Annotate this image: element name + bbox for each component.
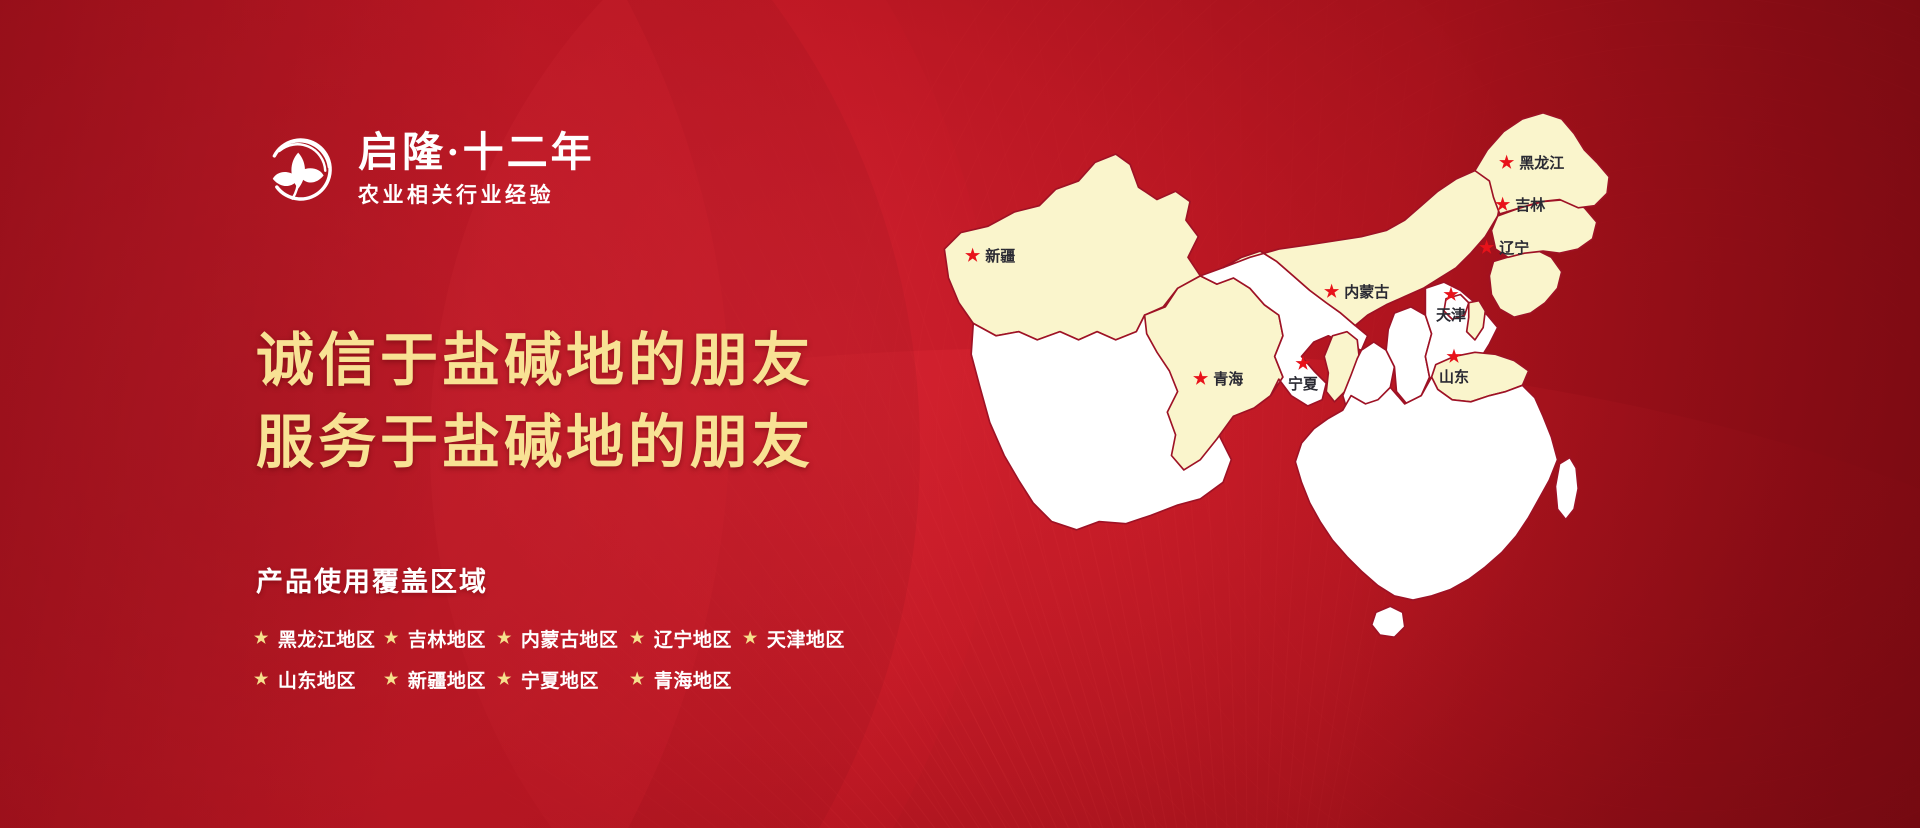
china-coverage-map: ★新疆 ★青海 ★宁夏 ★内蒙古 ★天津 ★山东 ★辽宁 ★吉林 ★黑龙江 — [905, 55, 1665, 695]
map-label-inner-mongolia: ★内蒙古 — [1324, 281, 1389, 302]
star-marker-icon: ★ — [1324, 283, 1339, 300]
map-label-heilongjiang: ★黑龙江 — [1499, 152, 1564, 173]
province-taiwan — [1555, 458, 1578, 520]
region-row: ★黑龙江地区 ★吉林地区 ★内蒙古地区 ★辽宁地区 ★天津地区 — [254, 625, 934, 652]
region-row: ★山东地区 ★新疆地区 ★宁夏地区 ★青海地区 — [254, 666, 934, 693]
region-label: 吉林地区 — [408, 625, 486, 652]
star-icon: ★ — [743, 631, 758, 647]
star-marker-icon: ★ — [1443, 286, 1458, 303]
map-label-text: 新疆 — [985, 245, 1015, 266]
region-label: 内蒙古地区 — [521, 625, 619, 652]
map-label-jilin: ★吉林 — [1495, 194, 1545, 215]
content-column: 启隆·十二年 农业相关行业经验 诚信于盐碱地的朋友 服务于盐碱地的朋友 产品使用… — [0, 0, 940, 828]
star-marker-icon: ★ — [1479, 239, 1494, 256]
map-label-text: 黑龙江 — [1519, 152, 1564, 173]
map-label-text: 青海 — [1213, 368, 1243, 389]
star-marker-icon: ★ — [1193, 370, 1208, 387]
map-label-text: 宁夏 — [1288, 373, 1318, 394]
region-label: 宁夏地区 — [521, 666, 599, 693]
headline: 诚信于盐碱地的朋友 服务于盐碱地的朋友 — [256, 320, 814, 485]
star-icon: ★ — [630, 672, 645, 688]
region-item: ★内蒙古地区 — [497, 625, 630, 652]
region-label: 新疆地区 — [408, 666, 486, 693]
map-label-ningxia: ★宁夏 — [1288, 355, 1318, 394]
star-icon: ★ — [254, 672, 269, 688]
province-hainan — [1372, 606, 1405, 637]
region-label: 山东地区 — [278, 666, 356, 693]
map-label-shandong: ★山东 — [1439, 348, 1469, 387]
map-label-text: 内蒙古 — [1344, 281, 1389, 302]
headline-line-1: 诚信于盐碱地的朋友 — [256, 320, 814, 402]
region-label: 天津地区 — [767, 625, 845, 652]
region-item: ★辽宁地区 — [630, 625, 743, 652]
coverage-region-list: ★黑龙江地区 ★吉林地区 ★内蒙古地区 ★辽宁地区 ★天津地区 ★山东地区 ★新… — [254, 625, 934, 707]
star-marker-icon: ★ — [1295, 355, 1310, 372]
map-label-tianjin: ★天津 — [1436, 286, 1466, 325]
map-label-xinjiang: ★新疆 — [965, 245, 1015, 266]
star-icon: ★ — [497, 631, 512, 647]
headline-line-2: 服务于盐碱地的朋友 — [256, 402, 814, 484]
lotus-leaf-circle-logo-icon — [258, 128, 340, 210]
region-item: ★吉林地区 — [384, 625, 497, 652]
coverage-title: 产品使用覆盖区域 — [256, 560, 488, 599]
region-label: 青海地区 — [654, 666, 732, 693]
star-icon: ★ — [630, 631, 645, 647]
region-item: ★山东地区 — [254, 666, 384, 693]
region-item: ★黑龙江地区 — [254, 625, 384, 652]
brand-title: 启隆·十二年 — [358, 132, 595, 173]
star-icon: ★ — [384, 631, 399, 647]
star-icon: ★ — [384, 672, 399, 688]
region-item: ★青海地区 — [630, 666, 743, 693]
star-marker-icon: ★ — [1499, 154, 1514, 171]
star-icon: ★ — [254, 631, 269, 647]
promo-banner: 启隆·十二年 农业相关行业经验 诚信于盐碱地的朋友 服务于盐碱地的朋友 产品使用… — [0, 0, 1920, 828]
star-marker-icon: ★ — [1446, 348, 1461, 365]
map-label-text: 辽宁 — [1499, 237, 1529, 258]
region-item: ★新疆地区 — [384, 666, 497, 693]
star-marker-icon: ★ — [965, 247, 980, 264]
map-label-text: 吉林 — [1515, 194, 1545, 215]
map-label-text: 山东 — [1439, 366, 1469, 387]
region-item: ★天津地区 — [743, 625, 856, 652]
star-icon: ★ — [497, 672, 512, 688]
region-item: ★宁夏地区 — [497, 666, 630, 693]
brand-subtitle: 农业相关行业经验 — [358, 185, 595, 206]
region-label: 黑龙江地区 — [278, 625, 376, 652]
region-label: 辽宁地区 — [654, 625, 732, 652]
map-label-qinghai: ★青海 — [1193, 368, 1243, 389]
province-liaoning — [1489, 249, 1561, 317]
provinces-south-east — [1295, 377, 1557, 600]
brand-lockup: 启隆·十二年 农业相关行业经验 — [258, 128, 595, 210]
star-marker-icon: ★ — [1495, 196, 1510, 213]
map-label-liaoning: ★辽宁 — [1479, 237, 1529, 258]
map-label-text: 天津 — [1436, 304, 1466, 325]
